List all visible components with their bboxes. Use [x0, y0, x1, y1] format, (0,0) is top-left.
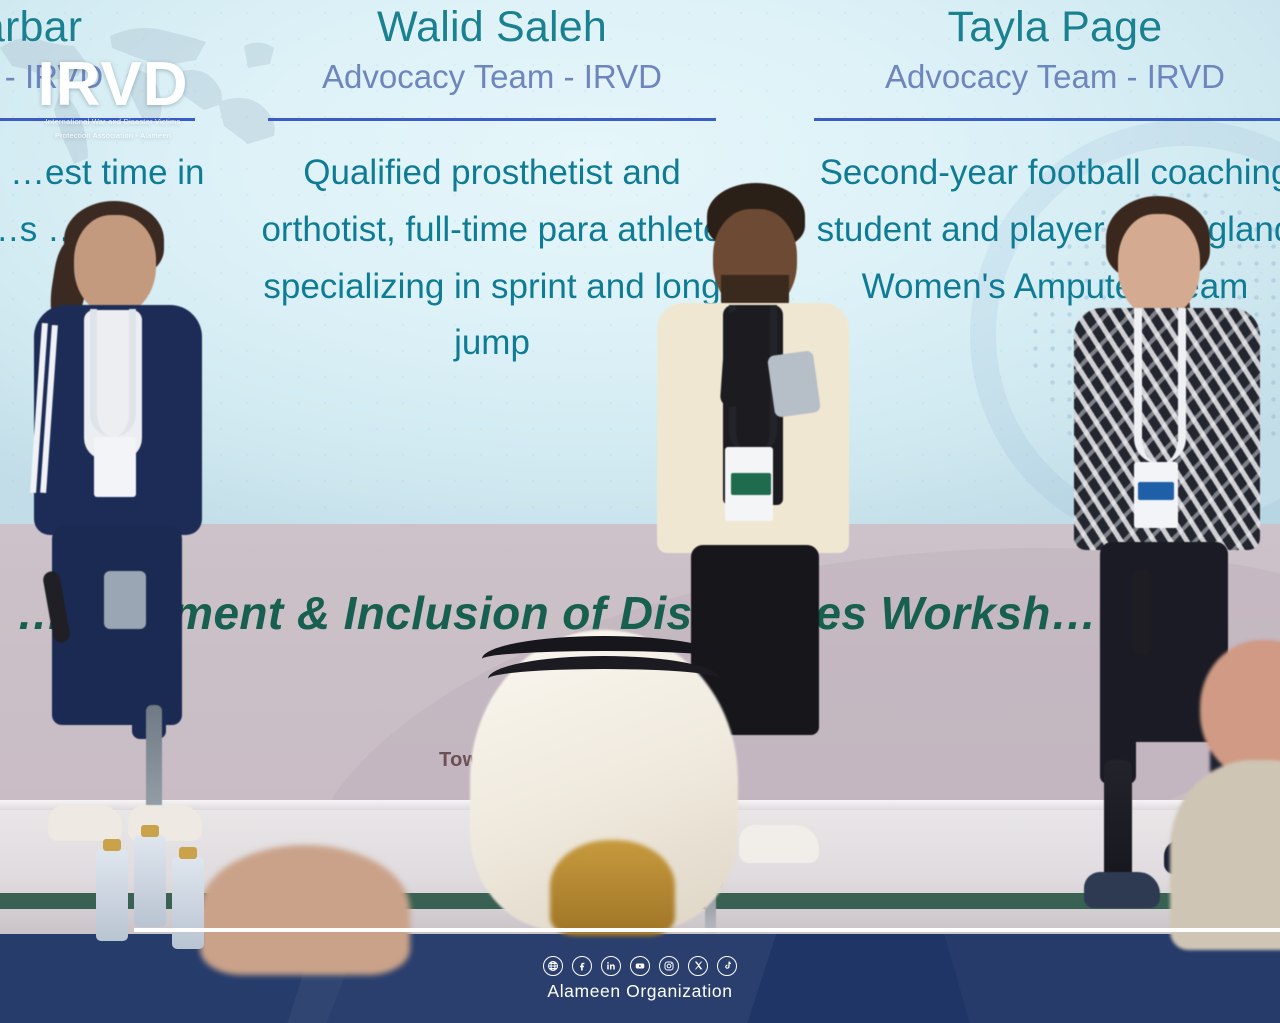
social-links — [543, 956, 737, 976]
speaker-person-1 — [12, 205, 222, 855]
audience-member-right — [1180, 640, 1280, 940]
speaker-role: Advocacy Team - IRVD — [775, 58, 1280, 96]
audience-member-left — [170, 845, 500, 965]
instagram-icon[interactable] — [659, 956, 679, 976]
speaker-role: …am - IRVD — [0, 58, 225, 96]
speaker-divider — [268, 118, 715, 121]
speaker-divider — [814, 118, 1280, 121]
mobile-phone — [767, 350, 821, 418]
mobile-phone — [104, 571, 146, 629]
tiktok-icon[interactable] — [717, 956, 737, 976]
globe-icon[interactable] — [543, 956, 563, 976]
speaker-role: Advocacy Team - IRVD — [232, 58, 752, 96]
youtube-icon[interactable] — [630, 956, 650, 976]
x-twitter-icon[interactable] — [688, 956, 708, 976]
speaker-divider — [0, 118, 195, 121]
facebook-icon[interactable] — [572, 956, 592, 976]
organization-name: Alameen Organization — [547, 981, 732, 1002]
speaker-name: Tayla Page — [775, 4, 1280, 50]
photo-frame: …arbar …am - IRVD …ld Record …est time i… — [0, 0, 1280, 1023]
footer-top-rule — [134, 928, 1280, 932]
speaker-name: Walid Saleh — [232, 4, 752, 50]
linkedin-icon[interactable] — [601, 956, 621, 976]
handheld-microphone — [1132, 568, 1152, 656]
speaker-name: …arbar — [0, 4, 225, 50]
